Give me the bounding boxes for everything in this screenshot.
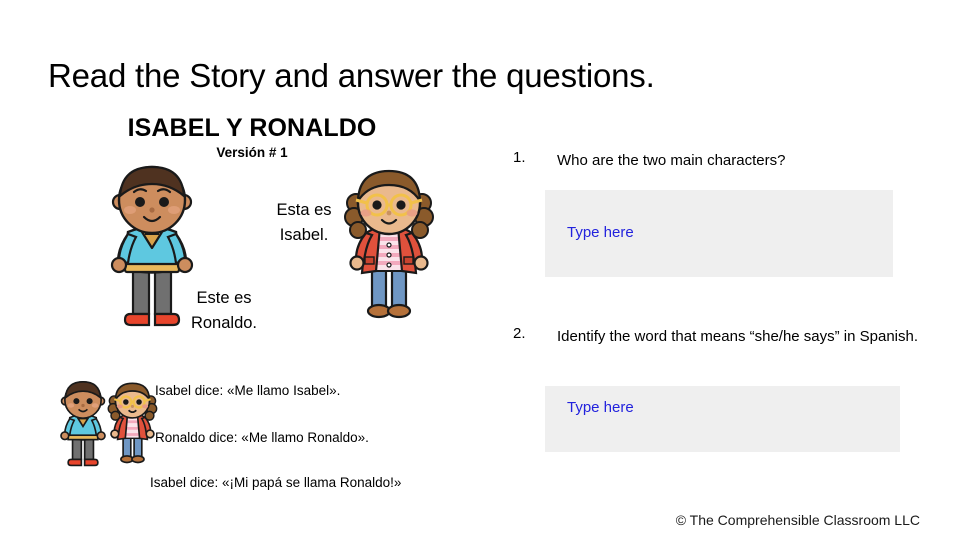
answer-2-placeholder[interactable]: Type here	[567, 399, 634, 416]
answer-field-question-2[interactable]: Type here	[545, 386, 900, 452]
copyright-footer: © The Comprehensible Classroom LLC	[0, 512, 920, 528]
story-title: ISABEL Y RONALDO	[110, 114, 394, 143]
question-1-text: Who are the two main characters?	[557, 149, 937, 172]
answer-1-placeholder[interactable]: Type here	[567, 224, 634, 241]
slide-canvas: Read the Story and answer the questions.…	[0, 0, 978, 550]
caption-isabel: Esta es Isabel.	[258, 198, 350, 248]
dialogue-line-3: Isabel dice: «¡Mi papá se llama Ronaldo!…	[150, 475, 401, 490]
question-1-number: 1.	[513, 149, 526, 166]
dialogue-line-2: Ronaldo dice: «Me llamo Ronaldo».	[155, 430, 369, 445]
dialogue-line-1: Isabel dice: «Me llamo Isabel».	[155, 383, 340, 398]
answer-field-question-1[interactable]: Type here	[545, 190, 893, 277]
question-2-text: Identify the word that means “she/he say…	[557, 325, 927, 348]
page-title: Read the Story and answer the questions.	[48, 57, 655, 95]
caption-ronaldo: Este es Ronaldo.	[172, 286, 276, 336]
both-characters-together-illustration	[48, 374, 160, 474]
question-2-number: 2.	[513, 325, 526, 342]
story-version-label: Versión # 1	[110, 145, 394, 160]
